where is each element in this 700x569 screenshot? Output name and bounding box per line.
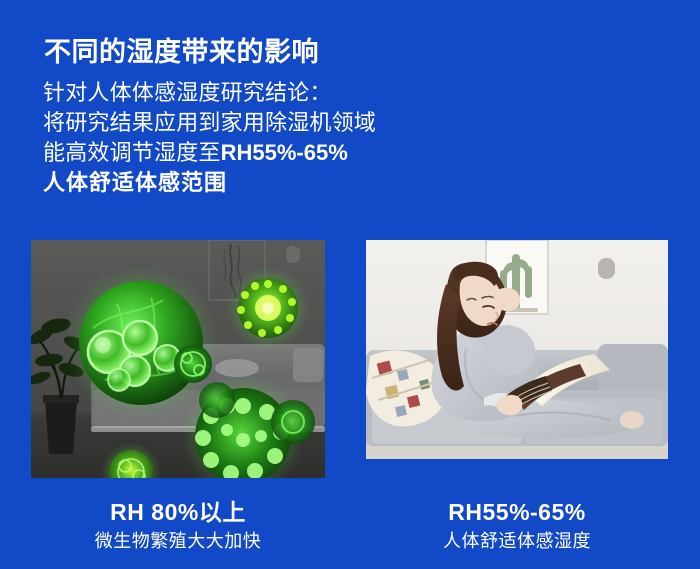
body-line-2: 将研究结果应用到家用除湿机领域 [43, 108, 376, 138]
caption-left-title: RH 80%以上 [31, 498, 325, 526]
body-line-1: 针对人体体感湿度研究结论： [43, 78, 376, 108]
photo-left-illustration [31, 240, 325, 478]
photo-high-humidity-microbes [31, 240, 325, 478]
body-copy: 针对人体体感湿度研究结论： 将研究结果应用到家用除湿机领域 能高效调节湿度至RH… [43, 78, 376, 198]
photo-right-illustration [366, 240, 668, 459]
body-line-3-regular: 能高效调节湿度至 [43, 140, 221, 165]
caption-left: RH 80%以上 微生物繁殖大大加快 [31, 498, 325, 554]
caption-right-title: RH55%-65% [366, 498, 668, 526]
body-line-4: 人体舒适体感范围 [43, 168, 376, 198]
humidity-infographic-poster: 不同的湿度带来的影响 针对人体体感湿度研究结论： 将研究结果应用到家用除湿机领域… [0, 0, 700, 569]
photo-comfort-humidity-woman [366, 240, 668, 459]
caption-right: RH55%-65% 人体舒适体感湿度 [366, 498, 668, 554]
body-line-3-highlight: RH55%-65% [221, 140, 348, 165]
caption-right-subtitle: 人体舒适体感湿度 [366, 528, 668, 554]
body-line-3: 能高效调节湿度至RH55%-65% [43, 138, 376, 168]
caption-left-subtitle: 微生物繁殖大大加快 [31, 528, 325, 554]
page-title: 不同的湿度带来的影响 [44, 36, 319, 70]
